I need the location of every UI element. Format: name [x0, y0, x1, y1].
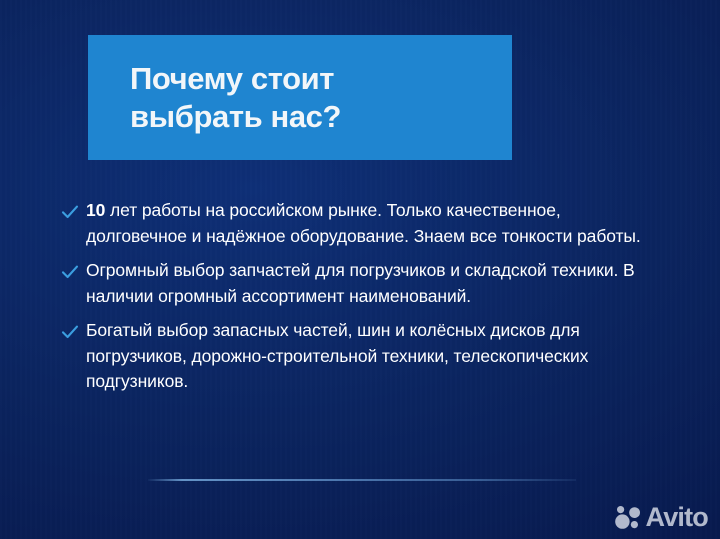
avito-watermark: Avito — [614, 504, 709, 531]
title-banner: Почему стоит выбрать нас? — [88, 35, 512, 160]
list-item-body: Огромный выбор запчастей для погрузчиков… — [86, 260, 635, 306]
list-item-text: 10 лет работы на российском рынке. Тольк… — [80, 198, 658, 249]
check-icon — [60, 321, 80, 343]
slide-canvas: Почему стоит выбрать нас? 10 лет работы … — [0, 0, 720, 539]
avito-dots-icon — [614, 505, 642, 531]
list-item: Богатый выбор запасных частей, шин и кол… — [60, 318, 680, 395]
list-item-body: лет работы на российском рынке. Только к… — [86, 200, 641, 246]
page-title-line-1: Почему стоит — [130, 60, 512, 98]
page-title-line-2: выбрать нас? — [130, 98, 512, 136]
check-icon — [60, 261, 80, 283]
check-icon — [60, 201, 80, 223]
list-item: Огромный выбор запчастей для погрузчиков… — [60, 258, 680, 309]
divider-line — [148, 479, 576, 481]
list-item-text: Богатый выбор запасных частей, шин и кол… — [80, 318, 658, 395]
list-item-body: Богатый выбор запасных частей, шин и кол… — [86, 320, 588, 391]
list-item-text: Огромный выбор запчастей для погрузчиков… — [80, 258, 658, 309]
list-item-lead: 10 — [86, 200, 105, 220]
avito-wordmark: Avito — [646, 504, 709, 531]
list-item: 10 лет работы на российском рынке. Тольк… — [60, 198, 680, 249]
benefits-list: 10 лет работы на российском рынке. Тольк… — [60, 198, 680, 404]
